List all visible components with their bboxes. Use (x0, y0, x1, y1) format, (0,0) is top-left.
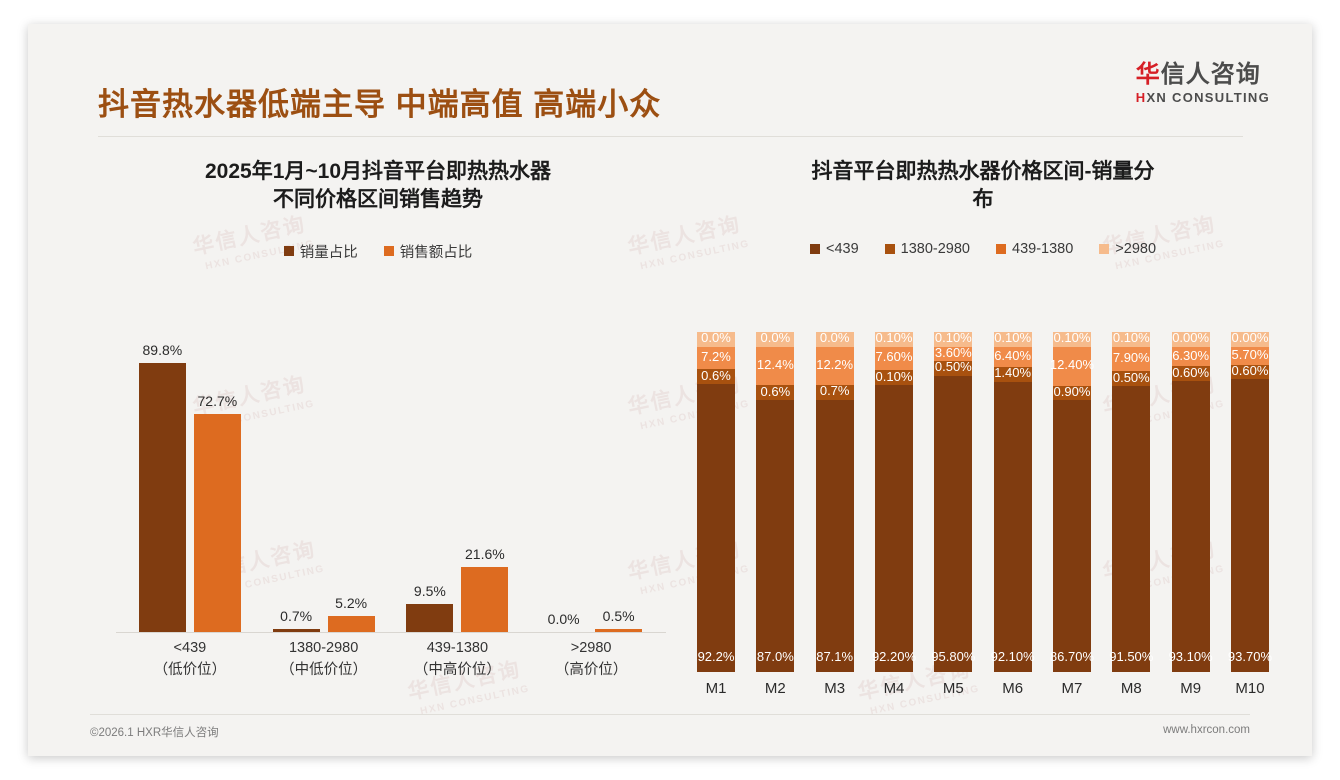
left-chart-group: 9.5%21.6% (406, 332, 508, 632)
right-chart-segment[interactable]: 0.6% (756, 385, 794, 400)
right-chart-segment[interactable]: 0.0% (816, 332, 854, 347)
left-chart-legend-label: 销售额占比 (400, 241, 473, 262)
right-chart-segment-value: 0.0% (701, 330, 731, 345)
right-chart-segment-value: 0.0% (761, 330, 791, 345)
left-chart-legend-item[interactable]: 销量占比 (284, 241, 358, 262)
right-chart-column[interactable]: 0.00%6.30%0.60%93.10% (1172, 332, 1210, 672)
company-logo: 华信人咨询 HXN CONSULTING (1136, 62, 1270, 105)
right-chart-column[interactable]: 0.00%5.70%0.60%93.70% (1231, 332, 1269, 672)
right-chart-segment-value: 12.4% (757, 357, 794, 372)
right-chart-legend-item[interactable]: <439 (810, 241, 859, 257)
right-chart-segment[interactable]: 0.10% (994, 332, 1032, 347)
left-chart-category-range: >2980 (540, 638, 642, 660)
right-chart-segment[interactable]: 0.60% (1231, 365, 1269, 380)
right-chart-segment[interactable]: 0.10% (1053, 332, 1091, 347)
right-chart-title-line1: 抖音平台即热热水器价格区间-销量分 (723, 158, 1243, 186)
right-chart-segment-value: 3.60% (935, 345, 972, 360)
left-chart-bar-value: 89.8% (143, 342, 183, 358)
left-chart-bar[interactable]: 21.6% (461, 567, 508, 632)
right-chart-segment-value: 0.50% (1113, 370, 1150, 385)
right-chart-segment[interactable]: 6.30% (1172, 347, 1210, 367)
logo-en-rest: XN CONSULTING (1146, 90, 1270, 105)
right-chart-column[interactable]: 0.0%12.4%0.6%87.0% (756, 332, 794, 672)
left-chart-bar-value: 0.7% (280, 608, 312, 624)
right-chart-segment-value: 93.70% (1228, 649, 1272, 664)
right-chart-segment[interactable]: 95.80% (934, 376, 972, 672)
right-chart-legend-item[interactable]: 439-1380 (996, 241, 1073, 257)
left-chart-legend-item[interactable]: 销售额占比 (384, 241, 473, 262)
right-stacked-bar-chart: 0.0%7.2%0.6%92.2%0.0%12.4%0.6%87.0%0.0%1… (683, 332, 1283, 702)
right-chart-legend-item[interactable]: >2980 (1099, 241, 1156, 257)
right-chart-legend-label: 439-1380 (1012, 241, 1073, 257)
left-chart-group: 0.0%0.5% (540, 332, 642, 632)
right-chart-segment[interactable]: 87.0% (756, 400, 794, 672)
left-chart-category-labels: <439（低价位）1380-2980（中低价位）439-1380（中高价位）>2… (123, 638, 658, 682)
right-chart-segment[interactable]: 92.10% (994, 382, 1032, 672)
right-chart-segment[interactable]: 0.10% (1112, 332, 1150, 347)
left-chart-legend-label: 销量占比 (300, 241, 358, 262)
legend-swatch-icon (384, 246, 394, 256)
right-chart-column[interactable]: 0.10%6.40%1.40%92.10% (994, 332, 1032, 672)
right-chart-segment-value: 0.10% (935, 330, 972, 345)
right-chart-segment[interactable]: 0.0% (697, 332, 735, 347)
legend-swatch-icon (810, 244, 820, 254)
right-chart-segment-value: 0.0% (820, 330, 850, 345)
right-chart-segment-value: 87.0% (757, 649, 794, 664)
right-chart-column[interactable]: 0.10%7.90%0.50%91.50% (1112, 332, 1150, 672)
right-chart-column[interactable]: 0.10%3.60%0.50%95.80% (934, 332, 972, 672)
right-chart-segment[interactable]: 0.50% (1112, 371, 1150, 386)
right-chart-legend-label: <439 (826, 241, 859, 257)
right-chart-category-label: M7 (1053, 680, 1091, 697)
right-chart-category-label: M4 (875, 680, 913, 697)
right-chart-segment-value: 92.20% (872, 649, 916, 664)
legend-swatch-icon (996, 244, 1006, 254)
right-chart-column[interactable]: 0.0%7.2%0.6%92.2% (697, 332, 735, 672)
left-chart-panel: 2025年1月~10月抖音平台即热热水器 不同价格区间销售趋势 销量占比销售额占… (78, 142, 678, 702)
right-chart-segment[interactable]: 0.60% (1172, 366, 1210, 381)
right-chart-segment[interactable]: 5.70% (1231, 347, 1269, 365)
right-chart-segment-value: 92.2% (698, 649, 735, 664)
right-chart-segment-value: 0.90% (1054, 384, 1091, 399)
right-chart-segment[interactable]: 0.0% (756, 332, 794, 347)
footer-copyright: ©2026.1 HXR华信人咨询 (90, 724, 219, 740)
left-chart-category-label: >2980（高价位） (540, 638, 642, 682)
right-chart-segment-value: 93.10% (1169, 649, 1213, 664)
right-chart-segment[interactable]: 0.00% (1172, 332, 1210, 347)
left-chart-bar[interactable]: 0.5% (595, 629, 642, 632)
left-chart-group: 89.8%72.7% (139, 332, 241, 632)
left-chart-bars: 89.8%72.7%0.7%5.2%9.5%21.6%0.0%0.5% (123, 332, 658, 632)
left-chart-category-label: 439-1380（中高价位） (406, 638, 508, 682)
right-chart-category-label: M9 (1172, 680, 1210, 697)
left-chart-category-label: 1380-2980（中低价位） (273, 638, 375, 682)
right-chart-legend-label: >2980 (1115, 241, 1156, 257)
right-chart-panel: 抖音平台即热热水器价格区间-销量分 布 <4391380-2980439-138… (683, 142, 1283, 702)
left-chart-title-line1: 2025年1月~10月抖音平台即热热水器 (118, 158, 638, 186)
right-chart-column[interactable]: 0.0%12.2%0.7%87.1% (816, 332, 854, 672)
page-title: 抖音热水器低端主导 中端高值 高端小众 (98, 79, 661, 124)
left-chart-bar-value: 21.6% (465, 546, 505, 562)
left-chart-category-range: 439-1380 (406, 638, 508, 660)
right-chart-segment[interactable]: 91.50% (1112, 386, 1150, 672)
right-chart-legend: <4391380-2980439-1380>2980 (683, 241, 1283, 257)
right-chart-segment-value: 7.60% (876, 349, 913, 364)
right-chart-segment-value: 0.10% (876, 330, 913, 345)
slide: 抖音热水器低端主导 中端高值 高端小众 华信人咨询 HXN CONSULTING… (28, 24, 1312, 756)
right-chart-legend-label: 1380-2980 (901, 241, 970, 257)
header-divider (98, 136, 1243, 137)
right-chart-column[interactable]: 0.10%7.60%0.10%92.20% (875, 332, 913, 672)
right-chart-segment[interactable]: 7.2% (697, 347, 735, 369)
left-chart-category-tier: （高价位） (540, 660, 642, 682)
logo-english: HXN CONSULTING (1136, 90, 1270, 105)
legend-swatch-icon (284, 246, 294, 256)
right-chart-segment-value: 92.10% (991, 649, 1035, 664)
left-chart-axis-line (116, 632, 666, 633)
right-chart-segment-value: 0.10% (1113, 330, 1150, 345)
left-chart-bar-value: 5.2% (335, 595, 367, 611)
logo-chinese: 华信人咨询 (1136, 62, 1270, 87)
left-chart-title: 2025年1月~10月抖音平台即热热水器 不同价格区间销售趋势 (78, 142, 678, 215)
right-chart-segment-value: 0.6% (761, 384, 791, 399)
right-chart-segment-value: 95.80% (931, 649, 975, 664)
right-chart-segment-value: 0.10% (994, 330, 1031, 345)
right-chart-column[interactable]: 0.10%12.40%0.90%86.70% (1053, 332, 1091, 672)
right-chart-segment-value: 0.60% (1172, 365, 1209, 380)
left-chart-bar[interactable]: 72.7% (194, 414, 241, 632)
right-chart-segment[interactable]: 6.40% (994, 347, 1032, 367)
right-chart-segment-value: 1.40% (994, 365, 1031, 380)
right-chart-segment-value: 0.10% (1054, 330, 1091, 345)
right-chart-segment[interactable]: 0.7% (816, 385, 854, 400)
left-chart-group: 0.7%5.2% (273, 332, 375, 632)
right-chart-category-label: M10 (1231, 680, 1269, 697)
footer-website: www.hxrcon.com (1163, 724, 1250, 736)
right-chart-category-label: M3 (816, 680, 854, 697)
right-chart-segment[interactable]: 92.2% (697, 384, 735, 672)
right-chart-segment[interactable]: 0.6% (697, 369, 735, 384)
left-chart-bar[interactable]: 0.7% (273, 629, 320, 632)
right-chart-segment-value: 0.00% (1232, 330, 1269, 345)
right-chart-segment-value: 0.50% (935, 359, 972, 374)
left-chart-bar-value: 72.7% (198, 393, 238, 409)
right-chart-segment-value: 6.40% (994, 348, 1031, 363)
right-chart-segment-value: 0.7% (820, 383, 850, 398)
right-chart-segment-value: 5.70% (1232, 347, 1269, 362)
right-chart-category-label: M8 (1112, 680, 1150, 697)
right-chart-segment-value: 87.1% (816, 649, 853, 664)
left-chart-category-range: 1380-2980 (273, 638, 375, 660)
logo-accent-char: 华 (1136, 61, 1161, 88)
right-chart-segment-value: 12.40% (1050, 357, 1094, 372)
right-chart-segment-value: 91.50% (1109, 649, 1153, 664)
right-chart-segment[interactable]: 87.1% (816, 400, 854, 672)
right-chart-segment-value: 0.6% (701, 368, 731, 383)
left-chart-legend: 销量占比销售额占比 (78, 241, 678, 262)
right-chart-segment[interactable]: 12.40% (1053, 347, 1091, 386)
right-chart-segment[interactable]: 0.90% (1053, 386, 1091, 401)
footer-divider (90, 714, 1250, 715)
right-chart-category-label: M5 (934, 680, 972, 697)
right-chart-legend-item[interactable]: 1380-2980 (885, 241, 970, 257)
right-chart-category-label: M6 (994, 680, 1032, 697)
right-chart-title-line2: 布 (723, 186, 1243, 214)
slide-header: 抖音热水器低端主导 中端高值 高端小众 华信人咨询 HXN CONSULTING (28, 24, 1312, 116)
left-chart-category-label: <439（低价位） (139, 638, 241, 682)
right-chart-segment[interactable]: 12.4% (756, 347, 794, 386)
right-chart-segment-value: 0.10% (876, 369, 913, 384)
right-chart-segment[interactable]: 0.10% (875, 370, 913, 385)
right-chart-segment-value: 0.60% (1232, 363, 1269, 378)
right-chart-segment[interactable]: 0.00% (1231, 332, 1269, 347)
left-chart-bar-value: 0.0% (548, 611, 580, 627)
left-chart-category-range: <439 (139, 638, 241, 660)
right-chart-title: 抖音平台即热热水器价格区间-销量分 布 (683, 142, 1283, 215)
right-chart-bars: 0.0%7.2%0.6%92.2%0.0%12.4%0.6%87.0%0.0%1… (697, 332, 1269, 672)
left-chart-bar[interactable]: 9.5% (406, 604, 453, 633)
logo-rest-chars: 信人咨询 (1161, 61, 1261, 88)
right-chart-segment[interactable]: 12.2% (816, 347, 854, 385)
right-chart-segment[interactable]: 86.70% (1053, 400, 1091, 672)
right-chart-category-label: M2 (756, 680, 794, 697)
right-chart-segment[interactable]: 1.40% (994, 367, 1032, 382)
left-chart-category-tier: （中高价位） (406, 660, 508, 682)
legend-swatch-icon (885, 244, 895, 254)
left-bar-chart: 89.8%72.7%0.7%5.2%9.5%21.6%0.0%0.5% <439… (78, 332, 678, 702)
right-chart-segment-value: 6.30% (1172, 348, 1209, 363)
right-chart-segment[interactable]: 93.70% (1231, 379, 1269, 672)
left-chart-bar[interactable]: 5.2% (328, 616, 375, 632)
right-chart-segment-value: 7.90% (1113, 350, 1150, 365)
left-chart-category-tier: （低价位） (139, 660, 241, 682)
left-chart-title-line2: 不同价格区间销售趋势 (118, 186, 638, 214)
right-chart-segment-value: 0.00% (1172, 330, 1209, 345)
right-chart-segment[interactable]: 0.10% (875, 332, 913, 347)
right-chart-segment-value: 12.2% (816, 357, 853, 372)
right-chart-segment-value: 7.2% (701, 349, 731, 364)
legend-swatch-icon (1099, 244, 1109, 254)
right-chart-segment-value: 86.70% (1050, 649, 1094, 664)
right-chart-segment[interactable]: 7.60% (875, 347, 913, 371)
right-chart-segment[interactable]: 0.50% (934, 361, 972, 376)
right-chart-segment[interactable]: 92.20% (875, 385, 913, 672)
left-chart-category-tier: （中低价位） (273, 660, 375, 682)
left-chart-bar[interactable]: 89.8% (139, 363, 186, 632)
left-chart-bar-value: 0.5% (603, 608, 635, 624)
left-chart-bar-value: 9.5% (414, 583, 446, 599)
right-chart-category-label: M1 (697, 680, 735, 697)
right-chart-category-labels: M1M2M3M4M5M6M7M8M9M10 (697, 680, 1269, 697)
logo-en-accent: H (1136, 90, 1147, 105)
right-chart-segment[interactable]: 93.10% (1172, 381, 1210, 672)
right-chart-segment[interactable]: 7.90% (1112, 347, 1150, 372)
